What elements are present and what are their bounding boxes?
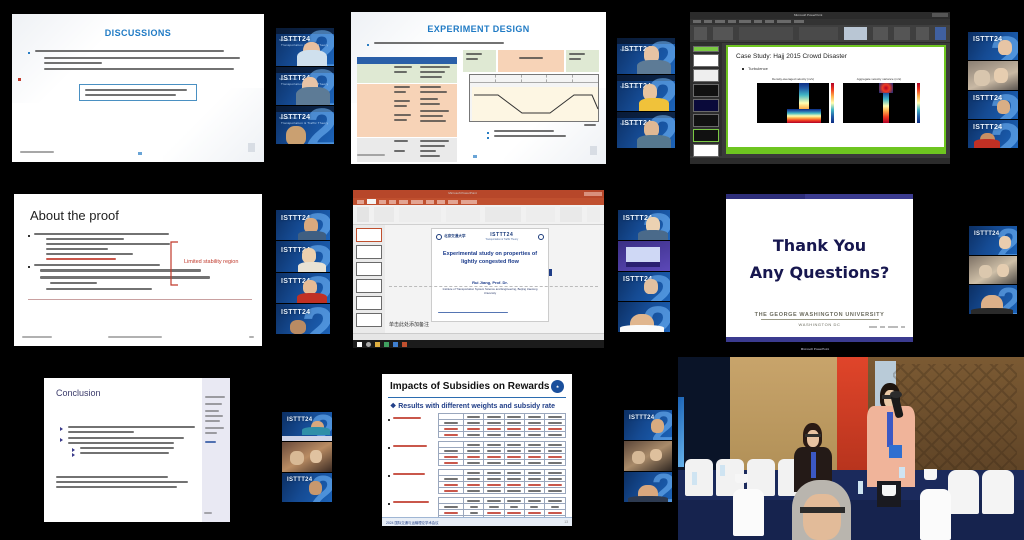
- slide-thumbnail-selected[interactable]: [356, 228, 382, 242]
- participant-face: [302, 248, 316, 263]
- camera-tile[interactable]: Speaker View 2 ISTTT24 Transportation & …: [276, 28, 334, 66]
- water-bottle: [899, 467, 905, 478]
- page-number: [473, 155, 477, 158]
- window-title: Microsoft PowerPoint: [448, 191, 476, 195]
- camera-tile[interactable]: 2 ISTTT24: [618, 272, 670, 302]
- slide-thumbnail[interactable]: [693, 84, 719, 97]
- eyeglasses-icon: [805, 434, 822, 437]
- camera-tile[interactable]: 2: [969, 285, 1017, 314]
- slide-logo: [248, 143, 255, 152]
- camera-tile-screen[interactable]: [618, 241, 670, 271]
- slide-surface: Impacts of Subsidies on Rewards ★ ❖ Resu…: [382, 374, 572, 526]
- participant-torso: [638, 230, 668, 240]
- camera-tile-room[interactable]: [969, 256, 1017, 285]
- slide-thumbnail[interactable]: [356, 262, 382, 276]
- diamond-bullet-icon: ❖: [390, 403, 396, 410]
- row-group-label: [393, 445, 427, 447]
- camera-tile[interactable]: 2: [624, 472, 672, 502]
- adjacent-tile-sliver: [678, 397, 684, 467]
- slide-thumbnail-pane[interactable]: [690, 43, 722, 156]
- water-bottle: [720, 465, 726, 476]
- participant-face: [309, 481, 322, 495]
- participant-face: [286, 126, 306, 144]
- slide-title: Impacts of Subsidies on Rewards: [390, 381, 549, 392]
- participant-torso: [296, 87, 330, 105]
- slide-title: Thank You: [726, 236, 913, 255]
- annotation-label: Limited stability region: [184, 259, 238, 265]
- camera-tile-room[interactable]: [624, 441, 672, 471]
- panel-experiment-design[interactable]: EXPERIMENT DESIGN: [341, 0, 682, 180]
- slide-thumbnail[interactable]: [356, 313, 382, 327]
- bullet-list: Limited stability region: [28, 233, 252, 300]
- bullet-arrow-icon: [72, 453, 75, 457]
- slide-subtitle: ❖ Results with different weights and sub…: [390, 402, 572, 410]
- bullet-lead: [367, 42, 606, 44]
- participant-torso: [298, 262, 326, 272]
- row-group-label: [393, 501, 429, 503]
- slide-thumbnail[interactable]: [693, 144, 719, 157]
- window-titlebar[interactable]: Microsoft PowerPoint: [353, 190, 604, 198]
- slide-canvas: 北京交通大学 ISTTT24 Transportation & Traffic …: [431, 228, 549, 322]
- conference-logo: ISTTT24: [973, 124, 1002, 131]
- window-controls[interactable]: [932, 13, 948, 17]
- bullet-turbulence: Turbulence: [742, 66, 944, 71]
- conference-logo: ISTTT24: [973, 36, 1002, 43]
- video-wall-grid: DISCUSSIONS: [0, 0, 1024, 540]
- tile-caption-bar: [282, 436, 332, 441]
- red-bracket: [168, 241, 180, 287]
- participant-torso: [974, 139, 1000, 148]
- search-icon[interactable]: [366, 342, 371, 347]
- powerpoint-window[interactable]: Microsoft PowerPoint: [690, 12, 950, 164]
- bullet-arrow-icon: [60, 438, 63, 442]
- explorer-icon[interactable]: [375, 342, 380, 347]
- heatmap-figure-2: Aggregate velocity variance (m/s): [843, 77, 915, 123]
- app-icon[interactable]: [393, 342, 398, 347]
- phase-disturbance: [498, 50, 564, 72]
- camera-tile[interactable]: 2 ISTTT24: [276, 210, 330, 240]
- variables-table: [357, 57, 457, 162]
- participant-torso: [628, 496, 668, 502]
- participant-torso: [639, 98, 669, 111]
- camera-tile[interactable]: 2 ISTTT24: [968, 91, 1018, 119]
- panel-conclusion[interactable]: Conclusion: [0, 360, 341, 540]
- slide-surface: Conclusion: [44, 378, 230, 522]
- bullet-list: [28, 50, 250, 70]
- participant-torso: [637, 135, 671, 148]
- cup: [882, 485, 896, 496]
- bullet-list: [60, 426, 200, 454]
- cup: [735, 474, 747, 483]
- slide-title: DISCUSSIONS: [12, 28, 264, 38]
- notes-text: 单击此处添加备注: [389, 321, 429, 328]
- results-tables: [388, 413, 566, 522]
- participant-face: [997, 100, 1010, 114]
- red-marker: [18, 78, 21, 81]
- conference-logo: ISTTT24: [287, 477, 312, 483]
- camera-tile[interactable]: 2 ISTTT24: [618, 210, 670, 240]
- chair: [733, 489, 764, 537]
- status-bar: Click to add notes: [690, 158, 950, 164]
- speed-curve: [470, 75, 600, 123]
- camera-tile[interactable]: 2 ISTTT24: [276, 241, 330, 271]
- callout-box: [79, 84, 197, 101]
- row-group-label: [393, 473, 425, 475]
- slide-thumbnail[interactable]: [693, 54, 719, 67]
- slide-surface: Thank You Any Questions? THE GEORGE WASH…: [726, 194, 913, 342]
- participant-torso: [637, 60, 671, 74]
- bullet-arrow-icon: [60, 427, 63, 431]
- notes-list: [487, 130, 566, 140]
- panel-about-the-proof[interactable]: About the proof: [0, 180, 341, 360]
- panel-hajj-case-study[interactable]: Microsoft PowerPoint: [682, 0, 1024, 180]
- phase-steady-right: [566, 50, 599, 72]
- slide-thumbnail[interactable]: [356, 245, 382, 259]
- slide-topband: [726, 194, 913, 199]
- camera-tile[interactable]: 2 ISTTT24: [968, 32, 1018, 60]
- slide-thumbnail[interactable]: [693, 69, 719, 82]
- speed-profile-chart: [469, 74, 599, 122]
- citation: [56, 476, 200, 488]
- water-bottle: [858, 481, 864, 494]
- slide-footer: 2024 国际交通与运输理论学术会议 13: [382, 517, 572, 526]
- conference-logo: ISTTT24: [287, 417, 312, 423]
- slide-footer: [20, 151, 54, 156]
- speaker-lanyard: [887, 412, 893, 447]
- slide-title: Case Study: Hajj 2015 Crowd Disaster: [736, 53, 944, 60]
- status-bar: Click to add notes: [353, 333, 604, 340]
- camera-strip[interactable]: 2 ISTTT24 2 ISTTT24 2 ISTTT24 2 ISTTT24: [276, 210, 330, 334]
- guide-line: [389, 286, 598, 287]
- slide-title: EXPERIMENT DESIGN: [351, 24, 606, 34]
- heatmap-figures: Density-averaged velocity (m/s) Aggregat…: [728, 77, 944, 123]
- slide-subtitle: Any Questions?: [726, 263, 913, 282]
- ribbon-toolbar[interactable]: [690, 25, 950, 43]
- slide-statusbar: Microsoft PowerPoint: [726, 337, 913, 342]
- conference-logo: ISTTT24: [281, 309, 310, 316]
- camera-tile-room[interactable]: [968, 61, 1018, 89]
- university-seal-icon: [436, 234, 442, 240]
- conference-logo: ISTTT24: [629, 415, 654, 421]
- ribbon-toolbar[interactable]: [353, 205, 604, 225]
- camera-strip[interactable]: 2 ISTTT24 2: [969, 226, 1017, 314]
- heatmap-figure-1: Density-averaged velocity (m/s): [757, 77, 829, 123]
- row-group-label: [393, 417, 421, 419]
- slide-title: Experimental study on properties of ligh…: [438, 250, 542, 267]
- conference-logo: ISTTT24: [974, 231, 999, 237]
- ribbon-tabs[interactable]: [353, 198, 604, 205]
- phase-header: [463, 50, 599, 72]
- university-name: THE GEORGE WASHINGTON UNIVERSITY: [726, 312, 913, 318]
- chair: [685, 459, 713, 496]
- camera-strip[interactable]: 2 ISTTT24 2 ISTTT24 2: [618, 210, 670, 332]
- eyeglasses-icon: [800, 507, 845, 513]
- seal-icon: [538, 234, 544, 240]
- chair: [948, 470, 979, 514]
- university-seal-icon: ★: [551, 380, 564, 393]
- camera-tile[interactable]: Speaker View 2 ISTTT24 Transportation & …: [276, 106, 334, 144]
- participant-face: [303, 280, 317, 294]
- participant-torso: [620, 325, 664, 332]
- slide-title: About the proof: [30, 208, 262, 223]
- slide-canvas: Case Study: Hajj 2015 Crowd Disaster Tur…: [726, 45, 946, 154]
- author: Rui Jiang, Prof. Dr.: [432, 280, 548, 285]
- slide-thumbnail[interactable]: [693, 46, 719, 52]
- camera-tile[interactable]: Speaker View 2 ISTTT24 Transportation & …: [276, 67, 334, 105]
- slide-thumbnail-pane[interactable]: [353, 225, 385, 334]
- cup: [924, 469, 938, 480]
- chair: [920, 489, 951, 540]
- slide-thumbnail[interactable]: [693, 114, 719, 127]
- camera-strip[interactable]: 2 ISTTT24 2: [624, 410, 672, 502]
- slide-thumbnail-selected[interactable]: [693, 129, 719, 142]
- page-number: [138, 152, 142, 155]
- participant-torso: [297, 293, 327, 303]
- wall-red-column: [837, 357, 868, 478]
- taskbar[interactable]: [353, 340, 604, 348]
- participant-face: [998, 40, 1012, 55]
- attendee-face: [807, 430, 819, 446]
- slide-surface: EXPERIMENT DESIGN: [351, 12, 606, 164]
- participant-torso: [298, 231, 326, 240]
- slide-surface: About the proof: [14, 194, 262, 346]
- slide-sidebar: [202, 378, 230, 522]
- participant-face: [290, 320, 306, 334]
- slide-logo: [590, 146, 597, 155]
- slide-thumbnail[interactable]: [356, 296, 382, 310]
- camera-tile[interactable]: Speaker View 2 ISTTT24: [617, 38, 675, 74]
- camera-tile[interactable]: 2 ISTTT24: [968, 120, 1018, 148]
- window-controls[interactable]: [584, 192, 602, 196]
- camera-tile[interactable]: 2 ISTTT24: [282, 473, 332, 502]
- window-title: Microsoft PowerPoint: [794, 13, 822, 17]
- window-titlebar[interactable]: Microsoft PowerPoint: [690, 12, 950, 19]
- start-icon[interactable]: [357, 342, 362, 347]
- panel-lightly-congested-flow[interactable]: Microsoft PowerPoint: [341, 180, 682, 360]
- conference-logo-sub: Transportation & Traffic Theory: [281, 121, 328, 125]
- participant-torso: [297, 50, 327, 66]
- participant-face: [651, 419, 664, 433]
- phase-steady-left: [463, 50, 496, 72]
- powerpoint-window[interactable]: Microsoft PowerPoint: [353, 190, 604, 348]
- slide-thumbnail[interactable]: [356, 279, 382, 293]
- camera-tile[interactable]: 2 ISTTT24: [282, 412, 332, 441]
- camera-tile[interactable]: 2 ISTTT24: [276, 304, 330, 334]
- slide-thumbnail[interactable]: [693, 99, 719, 112]
- camera-tile-room[interactable]: [282, 442, 332, 471]
- participant-torso: [302, 427, 330, 435]
- camera-tile[interactable]: Speaker View 2 ISTTT24: [617, 75, 675, 111]
- panel-thank-you[interactable]: Thank You Any Questions? THE GEORGE WASH…: [682, 180, 1024, 360]
- x-axis-label: [584, 124, 596, 129]
- affiliation: Institute of Transportation System Scien…: [442, 287, 538, 295]
- participant-torso: [971, 308, 1013, 314]
- participant-face: [999, 236, 1011, 249]
- text-cursor: [549, 269, 552, 276]
- speaker-badge: [889, 445, 901, 458]
- powerpoint-icon[interactable]: [402, 342, 407, 347]
- participant-face: [644, 279, 658, 294]
- camera-strip[interactable]: 2 ISTTT24 2 ISTTT24 2 ISTTT24: [968, 32, 1018, 148]
- slide-nav-controls[interactable]: [869, 326, 905, 328]
- panel-discussions[interactable]: DISCUSSIONS: [0, 0, 341, 180]
- camera-strip[interactable]: Speaker View 2 ISTTT24 Speaker View 2 IS…: [617, 38, 675, 148]
- panel-live-room-photo[interactable]: [678, 357, 1024, 540]
- camera-tile[interactable]: 2 ISTTT24: [276, 273, 330, 303]
- panel-impacts-of-subsidies[interactable]: Impacts of Subsidies on Rewards ★ ❖ Resu…: [341, 360, 682, 540]
- water-bottle: [692, 472, 698, 485]
- chair: [982, 470, 1013, 514]
- camera-tile[interactable]: 2: [618, 302, 670, 332]
- camera-strip[interactable]: Speaker View 2 ISTTT24 Transportation & …: [276, 28, 334, 144]
- camera-tile[interactable]: 2 ISTTT24: [969, 226, 1017, 255]
- camera-tile[interactable]: 2 ISTTT24: [624, 410, 672, 440]
- lanyard: [811, 452, 816, 478]
- slide-footer-band: [728, 147, 944, 152]
- slide-surface: DISCUSSIONS: [12, 14, 264, 162]
- camera-strip[interactable]: 2 ISTTT24 2 ISTTT24: [282, 412, 332, 502]
- slide-logos: 北京交通大学 ISTTT24 Transportation & Traffic …: [432, 229, 548, 241]
- camera-tile[interactable]: Speaker View 2 ISTTT24: [617, 112, 675, 148]
- foreground-attendee-face: [803, 494, 841, 540]
- app-icon[interactable]: [384, 342, 389, 347]
